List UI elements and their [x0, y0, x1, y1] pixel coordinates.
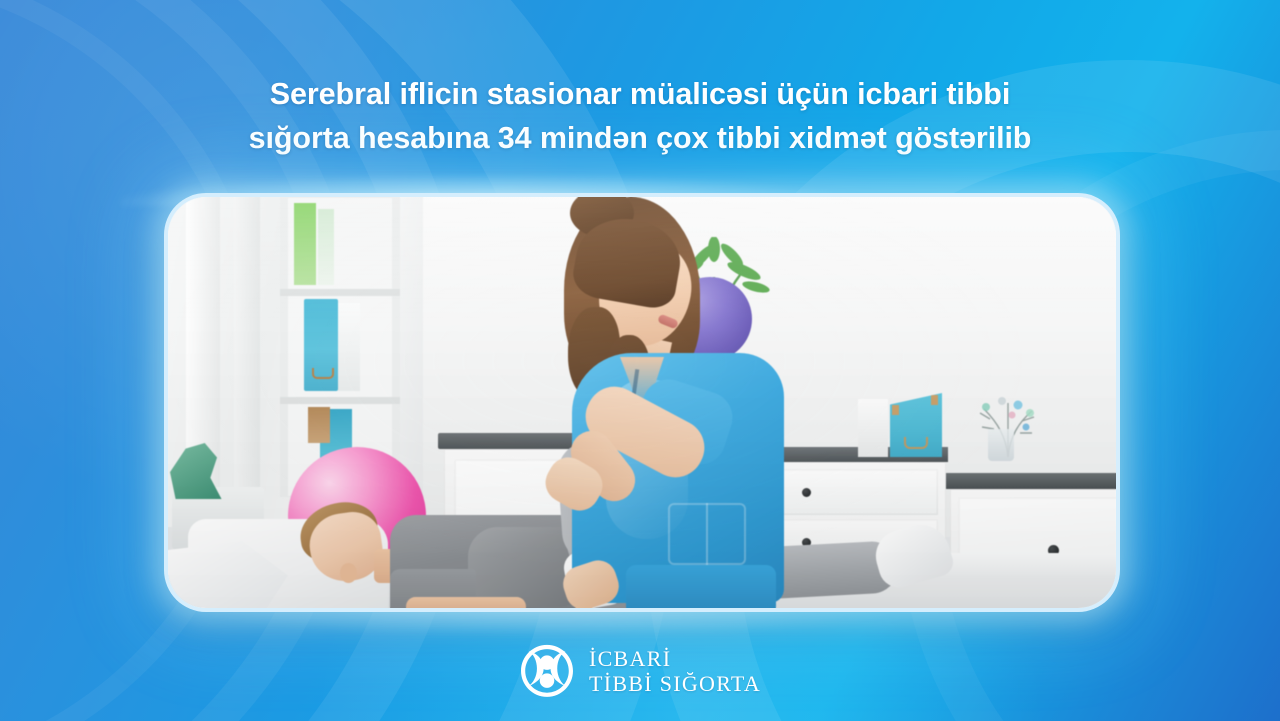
magazine-holder-white — [858, 399, 888, 457]
shelf-file-white — [338, 303, 360, 391]
shelf-file-teal-upper — [304, 299, 338, 391]
glass-vase — [988, 429, 1014, 461]
brand-logo-line-1: İCBARİ — [589, 646, 671, 671]
file-handle-icon — [312, 368, 334, 379]
shelf-board-upper — [280, 289, 400, 296]
therapist-pocket-divider — [706, 503, 708, 565]
icbari-tibbi-sigorta-emblem-icon — [519, 643, 575, 699]
shelf-board-lower — [280, 397, 400, 404]
brand-logo: İCBARİ TİBBİ SIĞORTA — [0, 643, 1280, 699]
shelf-file-green — [294, 203, 316, 285]
shelf-post-right — [392, 197, 400, 497]
holder-handle-icon — [904, 437, 928, 449]
page-title-line-1: Serebral iflicin stasionar müalicəsi üçü… — [270, 77, 1010, 111]
page-title: Serebral iflicin stasionar müalicəsi üçü… — [0, 72, 1280, 160]
holder-clip-right — [931, 395, 938, 405]
shelf-post-left — [280, 197, 288, 497]
hero-photo-frame — [164, 193, 1120, 612]
shelf-file-brown — [308, 407, 330, 443]
brand-logo-line-2: TİBBİ SIĞORTA — [589, 671, 761, 696]
curtain-panel-b — [234, 197, 260, 527]
counter-top-right-far — [946, 473, 1120, 489]
holder-clip-left — [892, 405, 899, 415]
drawer-knob — [802, 488, 811, 497]
shelf-file-light — [318, 209, 334, 285]
brand-logo-text: İCBARİ TİBBİ SIĞORTA — [589, 646, 761, 696]
boy-arm — [406, 597, 526, 612]
page-title-line-2: sığorta hesabına 34 mindən çox tibbi xid… — [130, 116, 1150, 160]
poster-canvas: Serebral iflicin stasionar müalicəsi üçü… — [0, 0, 1280, 721]
therapist-scrub-pants — [626, 565, 776, 612]
boy-ear — [340, 563, 357, 583]
hero-photo — [168, 197, 1116, 608]
